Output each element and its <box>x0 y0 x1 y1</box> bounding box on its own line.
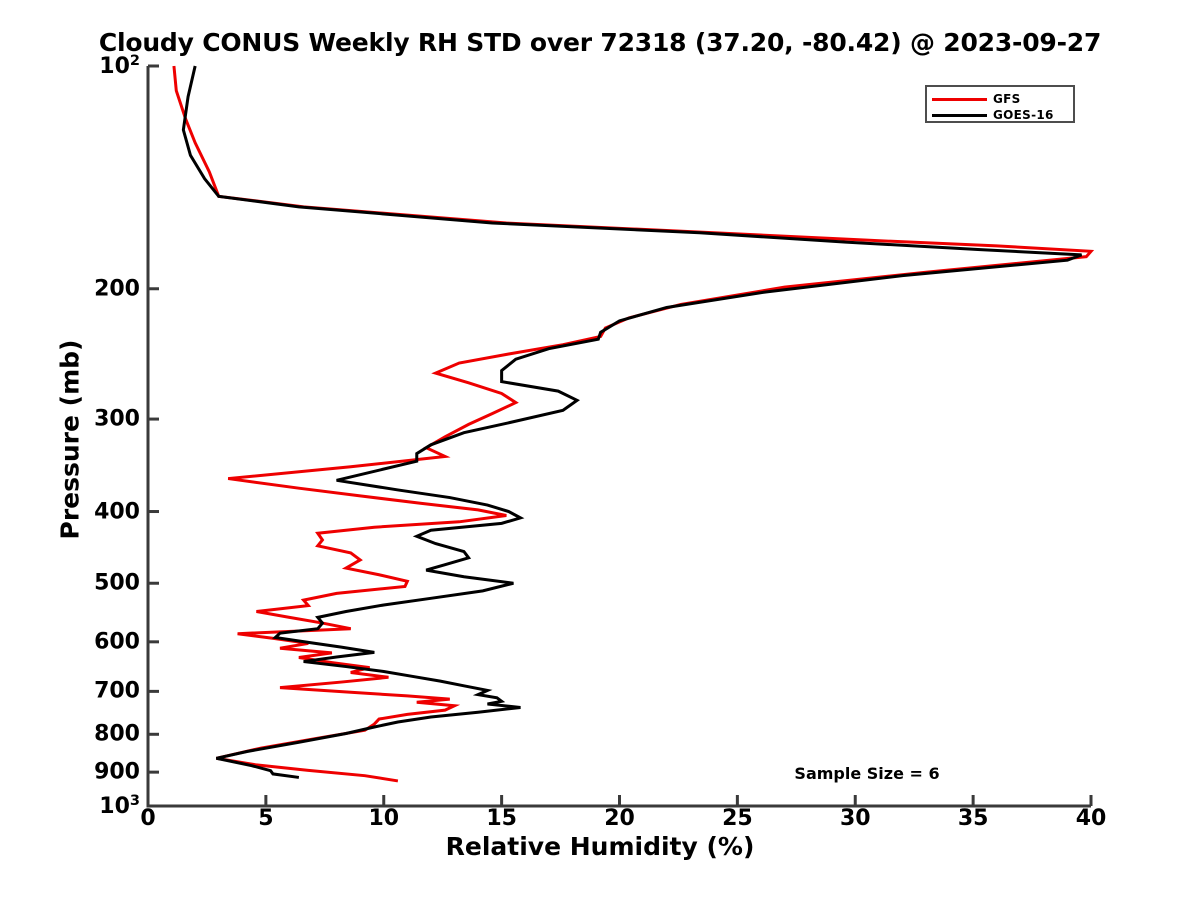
x-tick-label-4: 20 <box>604 806 635 831</box>
y-tick-label-3: 400 <box>40 499 140 524</box>
legend-swatch-gfs <box>932 98 987 101</box>
y-tick-label-4: 500 <box>40 571 140 596</box>
x-tick-label-0: 0 <box>140 806 155 831</box>
annotation-sample-size: Sample Size = 6 <box>794 764 939 783</box>
axes-group <box>148 66 1091 806</box>
legend-entry-1: GOES-16 <box>932 108 1054 122</box>
plot-canvas <box>0 0 1200 900</box>
y-tick-label-8: 900 <box>40 760 140 785</box>
y-tick-label-7: 800 <box>40 722 140 747</box>
y-tick-label-9: 103 <box>40 793 140 819</box>
legend[interactable]: GFS GOES-16 <box>925 85 1075 123</box>
x-tick-label-8: 40 <box>1076 806 1107 831</box>
y-tick-label-6: 700 <box>40 679 140 704</box>
x-tick-label-6: 30 <box>840 806 871 831</box>
series-group <box>174 66 1091 781</box>
legend-entry-0: GFS <box>932 92 1021 106</box>
figure-root: Cloudy CONUS Weekly RH STD over 72318 (3… <box>0 0 1200 900</box>
x-tick-label-2: 10 <box>368 806 399 831</box>
y-tick-label-1: 200 <box>40 276 140 301</box>
series-line-gfs <box>174 66 1091 781</box>
legend-swatch-goes16 <box>932 114 987 117</box>
axis-spines <box>148 66 1091 806</box>
legend-label-goes16: GOES-16 <box>993 108 1054 122</box>
x-tick-label-7: 35 <box>958 806 989 831</box>
legend-label-gfs: GFS <box>993 92 1021 106</box>
x-axis-label: Relative Humidity (%) <box>0 832 1200 861</box>
y-tick-label-5: 600 <box>40 629 140 654</box>
y-tick-label-0: 102 <box>40 53 140 79</box>
x-tick-label-5: 25 <box>722 806 753 831</box>
series-line-goes-16 <box>183 66 1081 777</box>
x-tick-label-1: 5 <box>258 806 273 831</box>
x-tick-label-3: 15 <box>486 806 517 831</box>
y-axis-label: Pressure (mb) <box>56 310 85 570</box>
y-tick-label-2: 300 <box>40 407 140 432</box>
